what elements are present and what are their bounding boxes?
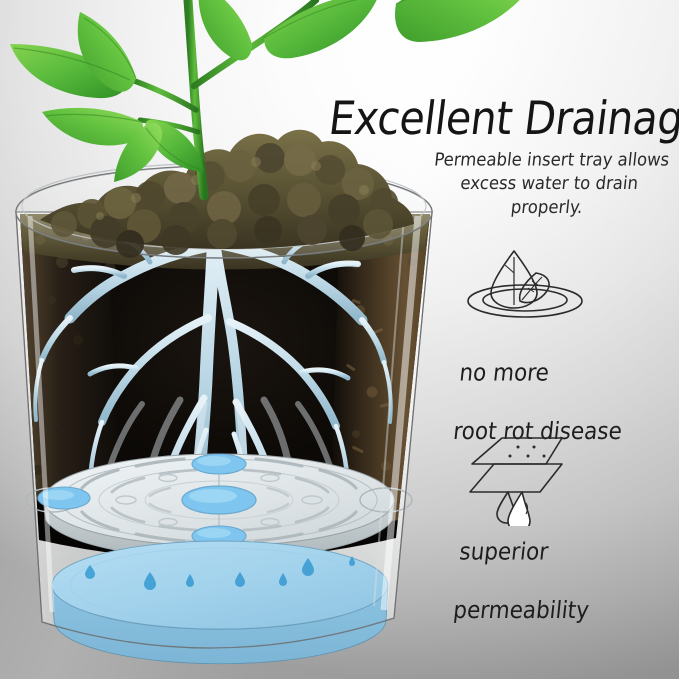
- page-subtitle-line-1: Permeable insert tray allows: [426, 148, 678, 172]
- feature-root-rot-line-1: no more: [458, 360, 629, 389]
- product-feature-image: Excellent Drainage Permeable insert tray…: [0, 0, 679, 679]
- leaf-in-dish-icon: [462, 243, 588, 321]
- page-title: Excellent Drainage: [326, 96, 676, 142]
- feature-permeability-line-2: permeability: [452, 597, 590, 626]
- water-reservoir: [52, 541, 388, 664]
- feature-permeability-line-1: superior: [458, 539, 596, 568]
- page-subtitle: Permeable insert tray allows excess wate…: [421, 148, 678, 219]
- page-subtitle-line-2: excess water to drain properly.: [421, 172, 676, 219]
- feature-permeability-label: superior permeability: [449, 510, 600, 654]
